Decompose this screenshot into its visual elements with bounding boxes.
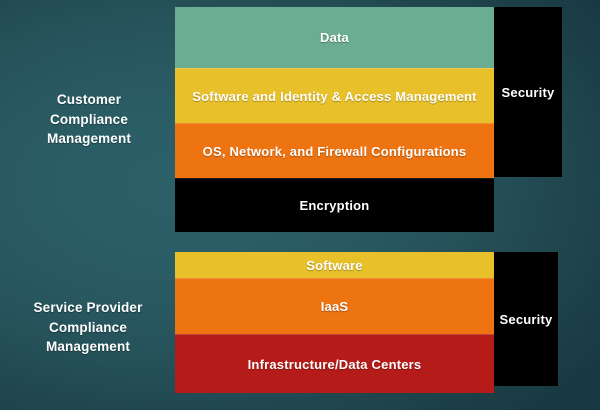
security-bar-label-service-provider: Security <box>500 312 553 327</box>
layer-label-iaas: IaaS <box>321 299 349 314</box>
layer-label-software: Software <box>306 258 363 273</box>
layer-label-encryption: Encryption <box>300 198 370 213</box>
layer-stack-customer: Data Software and Identity & Access Mana… <box>175 7 494 232</box>
layer-label-os-network-firewall: OS, Network, and Firewall Configurations <box>203 144 467 159</box>
layer-block-data[interactable]: Data <box>175 7 494 68</box>
section-label-customer: Customer Compliance Management <box>8 90 170 149</box>
layer-label-software-iam: Software and Identity & Access Managemen… <box>192 89 476 104</box>
security-bar-service-provider[interactable]: Security <box>494 252 558 386</box>
layer-label-infrastructure-data-centers: Infrastructure/Data Centers <box>248 357 422 372</box>
layer-block-infrastructure-data-centers[interactable]: Infrastructure/Data Centers <box>175 334 494 393</box>
layer-block-os-network-firewall[interactable]: OS, Network, and Firewall Configurations <box>175 123 494 178</box>
layer-block-software-iam[interactable]: Software and Identity & Access Managemen… <box>175 68 494 123</box>
layer-block-iaas[interactable]: IaaS <box>175 278 494 334</box>
layer-stack-service-provider: Software IaaS Infrastructure/Data Center… <box>175 252 494 393</box>
slide-canvas: Customer Compliance Management Data Soft… <box>0 0 600 410</box>
security-bar-customer[interactable]: Security <box>494 7 562 177</box>
layer-block-encryption[interactable]: Encryption <box>175 178 494 232</box>
layer-block-software[interactable]: Software <box>175 252 494 278</box>
section-label-service-provider: Service Provider Compliance Management <box>4 298 172 357</box>
security-bar-label-customer: Security <box>502 85 555 100</box>
layer-label-data: Data <box>320 30 349 45</box>
